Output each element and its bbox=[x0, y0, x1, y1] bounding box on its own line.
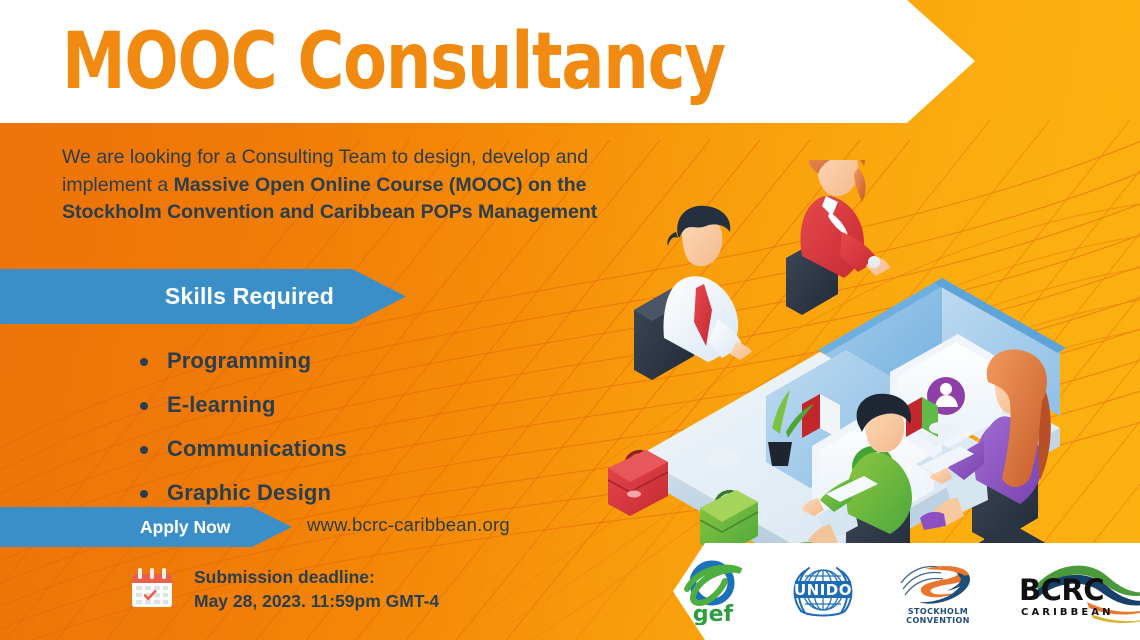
skills-required-banner: Skills Required bbox=[0, 269, 406, 324]
unido-wordmark: UNIDO bbox=[793, 581, 851, 599]
gef-logo: gef bbox=[679, 559, 751, 625]
partner-logos-panel: gef UNIDO bbox=[673, 543, 1140, 640]
skill-item: E-learning bbox=[140, 392, 347, 418]
skills-list: Programming E-learning Communications Gr… bbox=[140, 348, 347, 524]
page-title: MOOC Consultancy bbox=[62, 23, 725, 101]
gef-wordmark: gef bbox=[692, 602, 733, 625]
stockholm-line1: STOCKHOLM bbox=[907, 607, 967, 616]
bcrc-subtitle: CARIBBEAN bbox=[1021, 607, 1114, 618]
apply-now-label: Apply Now bbox=[0, 517, 230, 538]
office-workers-illustration bbox=[590, 160, 1140, 560]
skill-item: Communications bbox=[140, 436, 347, 462]
calendar-icon bbox=[128, 565, 176, 613]
deadline-label: Submission deadline: bbox=[194, 565, 439, 589]
website-link[interactable]: www.bcrc-caribbean.org bbox=[307, 514, 510, 536]
mouse bbox=[929, 422, 951, 434]
skills-required-label: Skills Required bbox=[165, 283, 406, 310]
worker-man-tie bbox=[634, 206, 752, 380]
skill-item: Graphic Design bbox=[140, 480, 347, 506]
stockholm-line2: CONVENTION bbox=[906, 616, 970, 625]
submission-deadline: Submission deadline: May 28, 2023. 11:59… bbox=[128, 565, 439, 613]
deadline-value: May 28, 2023. 11:59pm GMT-4 bbox=[194, 589, 439, 613]
briefcase-red bbox=[608, 450, 668, 516]
bcrc-caribbean-logo: BCRC CARIBBEAN bbox=[1015, 558, 1140, 626]
poster-canvas: MOOC Consultancy We are looking for a Co… bbox=[0, 0, 1140, 640]
bcrc-wordmark: BCRC bbox=[1019, 573, 1104, 607]
skill-item: Programming bbox=[140, 348, 347, 374]
stockholm-convention-logo: STOCKHOLM CONVENTION bbox=[895, 557, 981, 627]
worker-woman-red bbox=[786, 160, 890, 315]
intro-paragraph: We are looking for a Consulting Team to … bbox=[62, 144, 602, 227]
title-banner: MOOC Consultancy bbox=[0, 0, 975, 123]
unido-logo: UNIDO bbox=[785, 559, 861, 625]
deadline-text-block: Submission deadline: May 28, 2023. 11:59… bbox=[194, 565, 439, 613]
apply-now-button[interactable]: Apply Now bbox=[0, 507, 292, 547]
